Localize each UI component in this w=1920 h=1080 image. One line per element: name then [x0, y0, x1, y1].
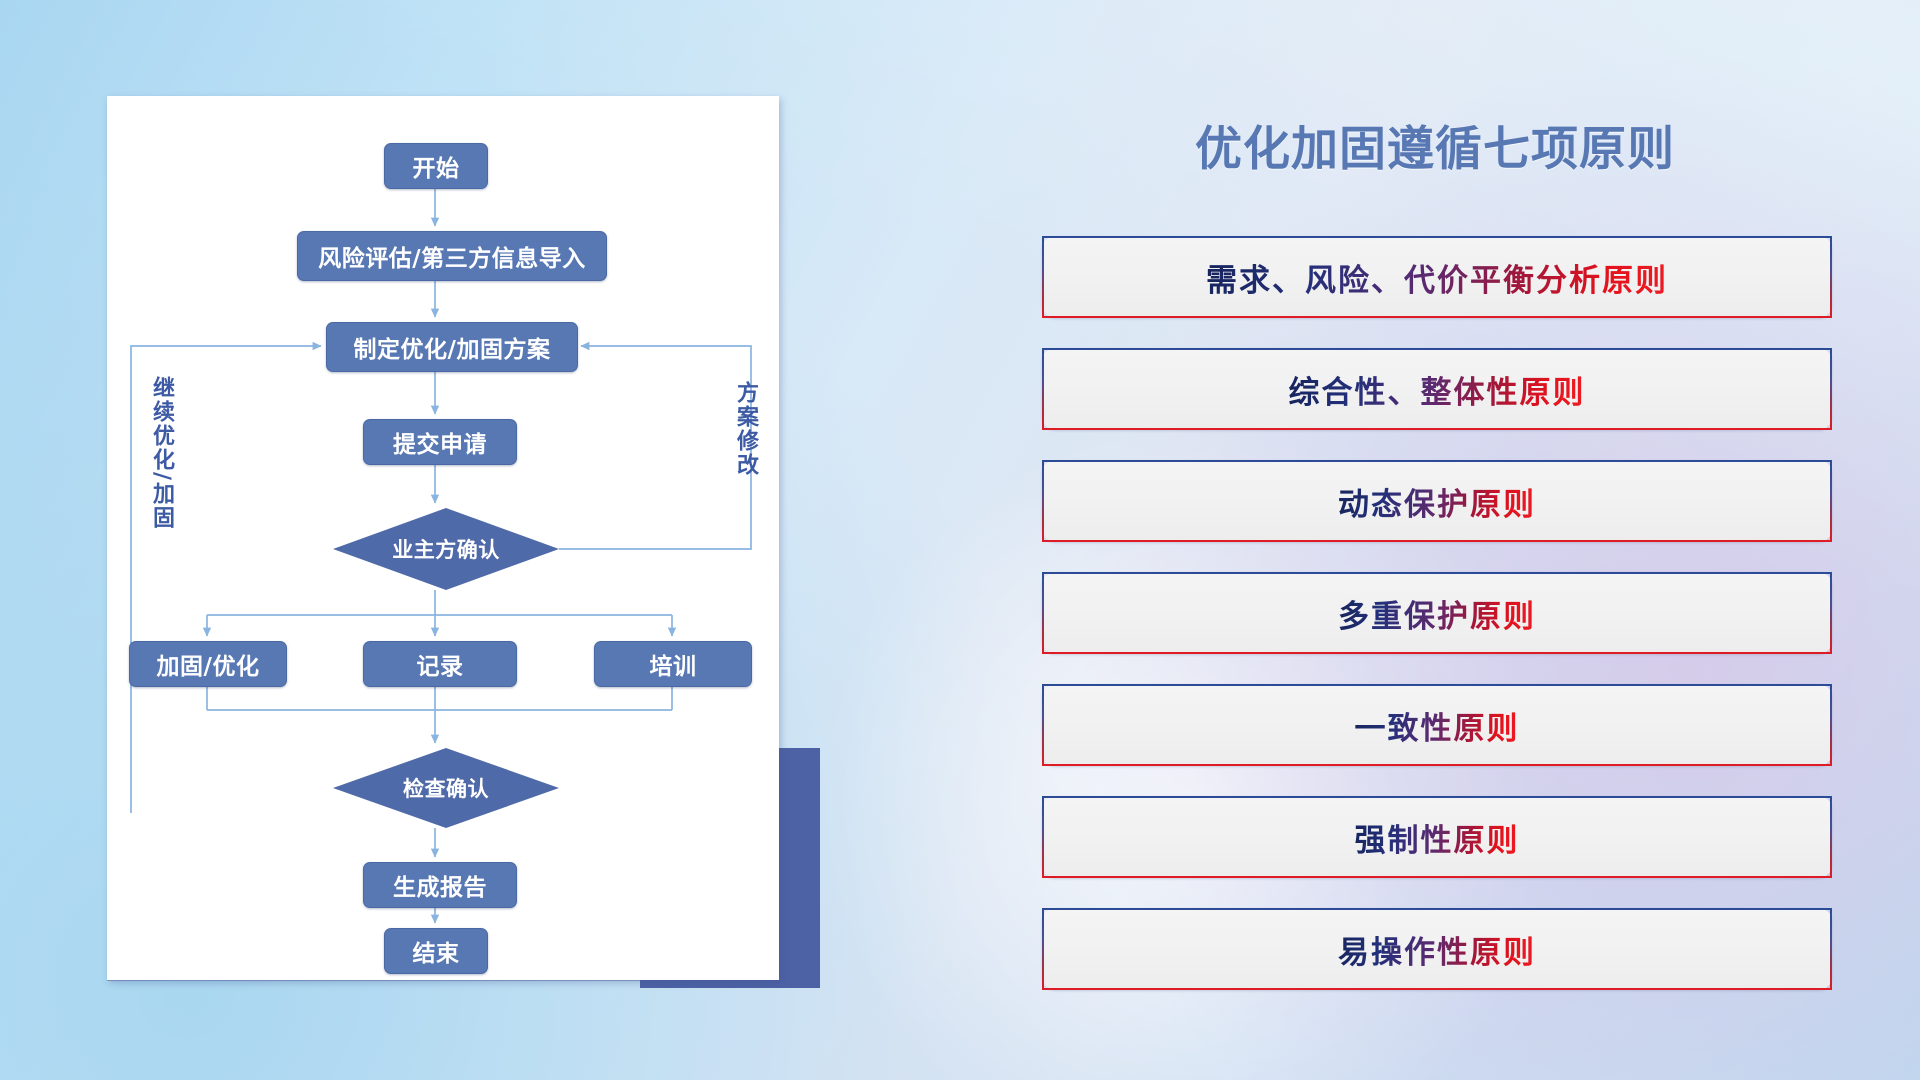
- principle-card-3[interactable]: 动态保护原则: [1042, 460, 1832, 542]
- flow-node-label: 培训: [650, 647, 697, 681]
- flow-node-label: 记录: [417, 647, 464, 681]
- principle-label: 综合性、整体性原则: [1289, 367, 1586, 412]
- principle-card-1[interactable]: 需求、风险、代价平衡分析原则: [1042, 236, 1832, 318]
- edge-label-right-loop: 方案修改: [729, 381, 761, 477]
- flow-node-owner: 业主方确认: [333, 508, 559, 590]
- page-title: 优化加固遵循七项原则: [1020, 110, 1850, 179]
- flowchart-card: 开始风险评估/第三方信息导入制定优化/加固方案提交申请业主方确认加固/优化记录培…: [107, 96, 779, 980]
- principle-label: 一致性原则: [1355, 703, 1520, 748]
- flow-node-label: 制定优化/加固方案: [354, 330, 551, 364]
- principle-card-4[interactable]: 多重保护原则: [1042, 572, 1832, 654]
- edge-label-left-loop: 继续优化/加固: [145, 376, 177, 530]
- flow-node-risk: 风险评估/第三方信息导入: [297, 231, 607, 281]
- flow-node-submit: 提交申请: [363, 419, 517, 465]
- flow-node-check: 检查确认: [333, 748, 559, 828]
- principle-card-6[interactable]: 强制性原则: [1042, 796, 1832, 878]
- flow-node-label: 业主方确认: [392, 534, 500, 564]
- flow-node-label: 生成报告: [393, 868, 487, 902]
- principle-label: 动态保护原则: [1338, 479, 1536, 524]
- flow-node-end: 结束: [384, 928, 488, 974]
- flow-node-label: 加固/优化: [157, 647, 260, 681]
- flow-node-label: 结束: [413, 934, 460, 968]
- flow-node-train: 培训: [594, 641, 752, 687]
- principle-card-2[interactable]: 综合性、整体性原则: [1042, 348, 1832, 430]
- principle-label: 强制性原则: [1355, 815, 1520, 860]
- flow-node-report: 生成报告: [363, 862, 517, 908]
- flow-node-label: 提交申请: [393, 425, 487, 459]
- principle-card-5[interactable]: 一致性原则: [1042, 684, 1832, 766]
- flow-node-label: 检查确认: [403, 773, 489, 803]
- flow-node-record: 记录: [363, 641, 517, 687]
- flow-node-label: 风险评估/第三方信息导入: [318, 239, 585, 273]
- principles-panel: 优化加固遵循七项原则 需求、风险、代价平衡分析原则综合性、整体性原则动态保护原则…: [1020, 96, 1850, 1006]
- flow-node-start: 开始: [384, 143, 488, 189]
- flow-node-label: 开始: [413, 149, 460, 183]
- principle-label: 多重保护原则: [1338, 591, 1536, 636]
- flow-node-reinforce: 加固/优化: [129, 641, 287, 687]
- flow-node-plan: 制定优化/加固方案: [326, 322, 578, 372]
- principle-card-7[interactable]: 易操作性原则: [1042, 908, 1832, 990]
- principle-label: 易操作性原则: [1338, 927, 1536, 972]
- principle-label: 需求、风险、代价平衡分析原则: [1206, 255, 1668, 300]
